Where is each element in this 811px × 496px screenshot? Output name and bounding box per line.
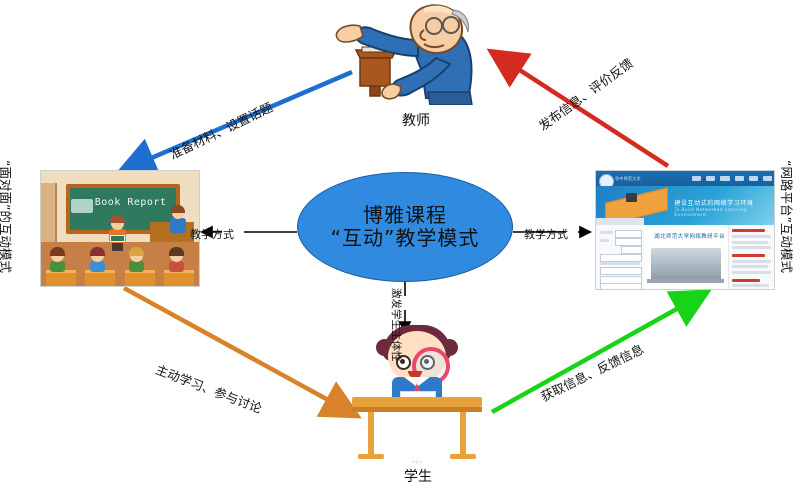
pupil-desk bbox=[164, 270, 194, 287]
edge-label-prepare-materials: 准备材料、设置话题 bbox=[166, 97, 275, 163]
website-left-column bbox=[596, 225, 645, 289]
side-label-network-platform-mode: “网路平台”互动模式 bbox=[778, 160, 797, 273]
website-nav bbox=[692, 176, 772, 181]
node-student: nipic nipic bbox=[352, 325, 482, 465]
node-teacher-caption: 教师 bbox=[381, 110, 451, 130]
nav-item bbox=[763, 176, 772, 181]
nav-item bbox=[692, 176, 701, 181]
website-right-column bbox=[728, 225, 775, 289]
classroom-teacher-figure bbox=[170, 207, 186, 233]
nav-item bbox=[735, 176, 744, 181]
hero-subtitle: To Build Networked Learning Environment bbox=[674, 208, 774, 218]
website-topbar: 华中师范大学 bbox=[596, 171, 774, 186]
edge-website-to-teacher bbox=[498, 56, 668, 166]
hero-graduation-cap-icon bbox=[626, 193, 637, 202]
edge-student-to-website bbox=[492, 296, 700, 412]
diagram-canvas: 博雅课程 “互动”教学模式 bbox=[0, 0, 811, 496]
pupil-desk bbox=[46, 270, 76, 287]
center-title-line1: 博雅课程 bbox=[363, 204, 447, 227]
desk-leg-left bbox=[368, 412, 374, 457]
website-footer-bar bbox=[647, 279, 724, 283]
edge-label-teaching-mode-left: 教学方式 bbox=[190, 226, 234, 242]
edge-label-student-subjectivity: 激发学生主体性 bbox=[389, 288, 404, 362]
node-website: 华中师范大学 建设互动式的网络学习环境 To Build Networked L… bbox=[595, 170, 775, 290]
pupil-figure bbox=[90, 249, 105, 271]
teacher-at-lectern-icon bbox=[318, 0, 503, 105]
website-main-title: 湖北师范大学网络教研平台 bbox=[654, 232, 725, 240]
pupil-figure bbox=[129, 249, 144, 271]
nav-item bbox=[720, 176, 729, 181]
chalk-book-drawing bbox=[71, 199, 93, 213]
website-logo-text: 华中师范大学 bbox=[615, 176, 641, 182]
image-watermark-bottom: nipic bbox=[364, 459, 470, 466]
side-label-face-to-face-mode: “面对面”的互动模式 bbox=[0, 160, 16, 273]
hero-title: 建设互动式的网络学习环境 bbox=[674, 198, 753, 207]
classroom-presenting-student bbox=[109, 217, 126, 251]
edge-label-teaching-mode-right: 教学方式 bbox=[524, 226, 568, 242]
central-concept-ellipse: 博雅课程 “互动”教学模式 bbox=[297, 172, 513, 282]
website-main-column: 湖北师范大学网络教研平台 bbox=[644, 225, 728, 289]
edge-label-publish-info: 发布信息、评价反馈 bbox=[534, 53, 636, 135]
pupil-desk bbox=[125, 270, 155, 287]
edge-label-obtain-info: 获取信息、反馈信息 bbox=[537, 339, 646, 405]
node-teacher bbox=[318, 0, 503, 105]
nav-item bbox=[749, 176, 758, 181]
nav-item bbox=[706, 176, 715, 181]
center-title-line2: “互动”教学模式 bbox=[331, 227, 480, 250]
edge-label-active-learning: 主动学习、参与讨论 bbox=[153, 359, 265, 417]
node-classroom: Book Report bbox=[40, 170, 200, 287]
pupil-figure bbox=[169, 249, 184, 271]
node-student-caption: 学生 bbox=[383, 466, 453, 486]
pupil-desk bbox=[85, 270, 115, 287]
chalkboard-text: Book Report bbox=[95, 197, 167, 208]
desk-leg-right bbox=[460, 412, 466, 457]
classroom-door bbox=[41, 183, 57, 243]
campus-building-photo bbox=[651, 248, 721, 281]
student-desk-top bbox=[352, 397, 482, 407]
pupil-figure bbox=[50, 249, 65, 271]
